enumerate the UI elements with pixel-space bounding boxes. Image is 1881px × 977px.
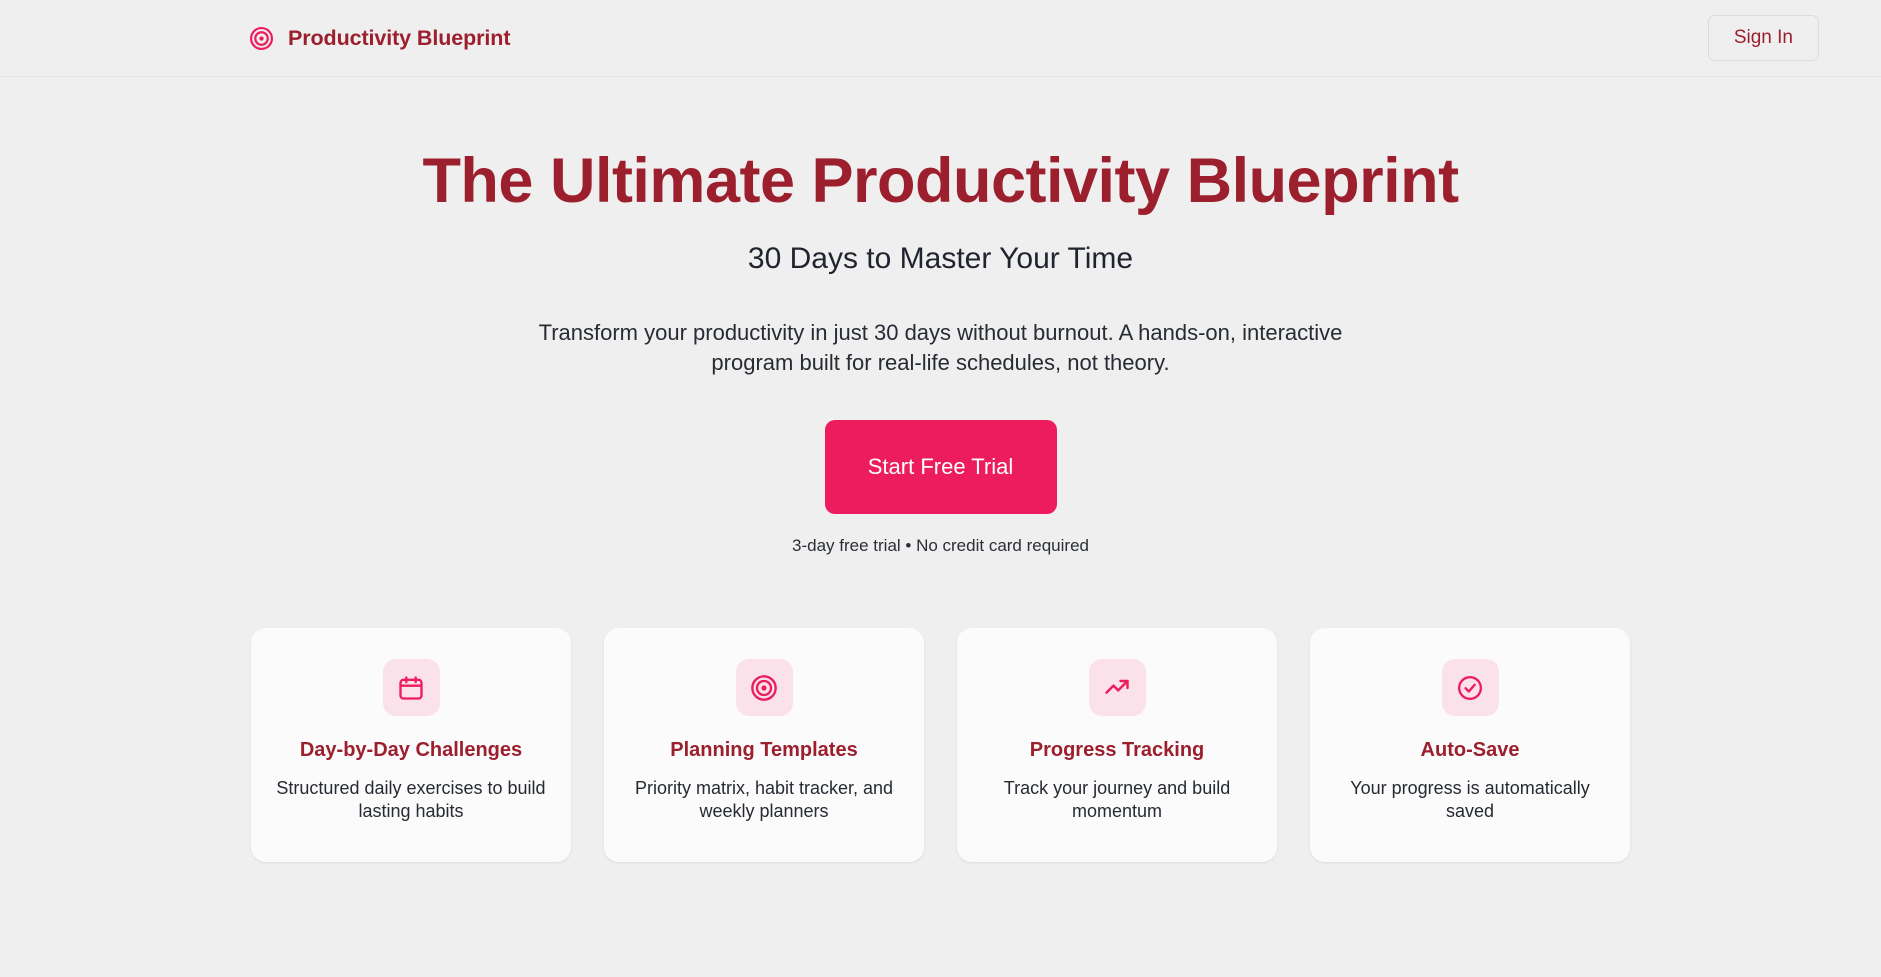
feature-card-planning-templates[interactable]: Planning Templates Priority matrix, habi…	[604, 628, 924, 862]
calendar-icon	[383, 659, 440, 716]
feature-description: Your progress is automatically saved	[1334, 777, 1606, 823]
feature-title: Auto-Save	[1421, 739, 1520, 761]
brand-logo[interactable]: Productivity Blueprint	[249, 26, 510, 51]
target-icon	[736, 659, 793, 716]
feature-description: Priority matrix, habit tracker, and week…	[628, 777, 900, 823]
site-header: Productivity Blueprint Sign In	[0, 0, 1881, 77]
feature-card-progress-tracking[interactable]: Progress Tracking Track your journey and…	[957, 628, 1277, 862]
check-circle-icon	[1442, 659, 1499, 716]
trending-up-icon	[1089, 659, 1146, 716]
start-free-trial-button[interactable]: Start Free Trial	[825, 420, 1057, 514]
feature-title: Day-by-Day Challenges	[300, 739, 522, 761]
sign-in-button[interactable]: Sign In	[1708, 15, 1819, 62]
feature-title: Planning Templates	[670, 739, 857, 761]
feature-description: Track your journey and build momentum	[981, 777, 1253, 823]
feature-card-auto-save[interactable]: Auto-Save Your progress is automatically…	[1310, 628, 1630, 862]
feature-card-day-by-day-challenges[interactable]: Day-by-Day Challenges Structured daily e…	[251, 628, 571, 862]
feature-cards: Day-by-Day Challenges Structured daily e…	[0, 628, 1881, 862]
page-title: The Ultimate Productivity Blueprint	[0, 150, 1881, 213]
hero-subtitle: 30 Days to Master Your Time	[0, 241, 1881, 277]
cta-note: 3-day free trial • No credit card requir…	[0, 536, 1881, 556]
feature-description: Structured daily exercises to build last…	[275, 777, 547, 823]
cta-container: Start Free Trial 3-day free trial • No c…	[0, 420, 1881, 556]
feature-title: Progress Tracking	[1030, 739, 1205, 761]
hero-section: The Ultimate Productivity Blueprint 30 D…	[0, 77, 1881, 862]
brand-name: Productivity Blueprint	[288, 26, 510, 51]
hero-description: Transform your productivity in just 30 d…	[521, 318, 1361, 378]
target-icon	[249, 26, 274, 51]
